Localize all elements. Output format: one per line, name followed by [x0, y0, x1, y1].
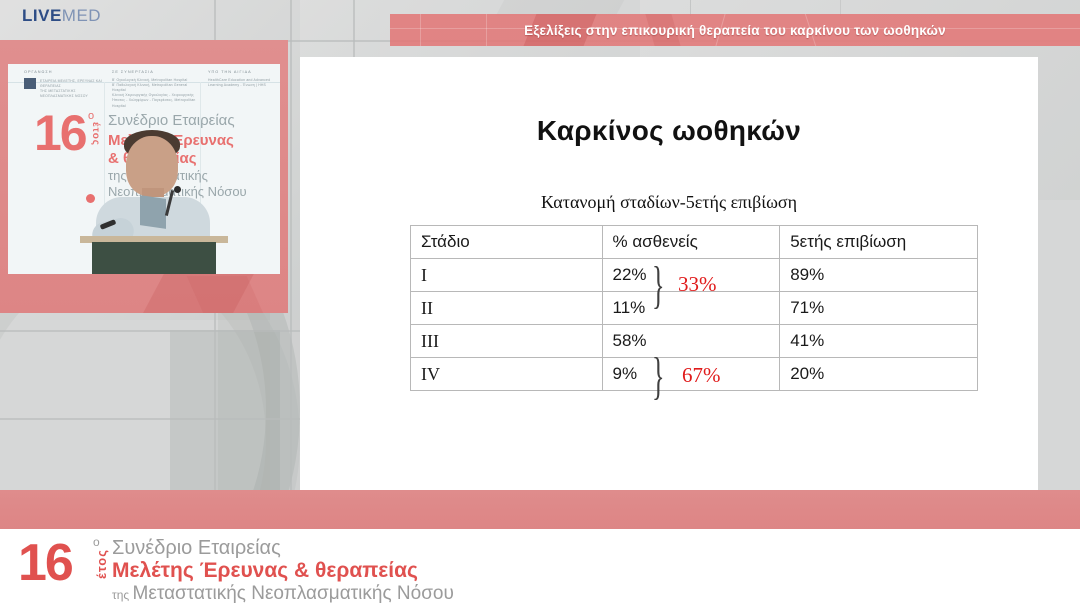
cell-patients-pct: 22% — [602, 259, 780, 292]
backdrop-etos: έτος — [90, 122, 101, 146]
cell-patients-pct: 11% — [602, 292, 780, 325]
footer-ordinal: ο — [93, 535, 100, 549]
cell-stage: IV — [411, 358, 603, 391]
column-header-patients: % ασθενείς — [602, 226, 780, 259]
footer-line-3-prefix: της — [112, 588, 133, 602]
livemed-logo: LIVEMED — [22, 6, 101, 26]
backdrop-ordinal: ο — [88, 110, 94, 122]
microphone-icon — [174, 186, 181, 193]
table-header-row: Στάδιο % ασθενείς 5ετής επιβίωση — [411, 226, 978, 259]
backdrop-aegis-label: ΥΠΟ ΤΗΝ ΑΙΓΙΔΑ — [208, 70, 252, 76]
cell-stage: III — [411, 325, 603, 358]
table-row: I 22% 89% — [411, 259, 978, 292]
stage-distribution-table: Στάδιο % ασθενείς 5ετής επιβίωση I 22% 8… — [410, 225, 978, 391]
footer-line-2: Μελέτης Έρευνας & θεραπείας — [112, 559, 418, 583]
slide-canvas[interactable]: Καρκίνος ωοθηκών Κατανομή σταδίων-5ετής … — [300, 57, 1038, 490]
column-header-survival: 5ετής επιβίωση — [780, 226, 978, 259]
cell-patients-pct: 58% — [602, 325, 780, 358]
podium — [92, 242, 216, 274]
backdrop-org-label: ΟΡΓΑΝΩΣΗ — [24, 70, 52, 74]
conference-footer-banner: 16 ο έτος Συνέδριο Εταιρείας Μελέτης Έρε… — [0, 529, 1080, 608]
table-row: IV 9% 20% — [411, 358, 978, 391]
cell-stage: II — [411, 292, 603, 325]
footer-line-3-text: Μεταστατικής Νεοπλασματικής Νόσου — [133, 583, 454, 604]
slide-subtitle: Κατανομή σταδίων-5ετής επιβίωση — [300, 192, 1038, 213]
cell-survival: 20% — [780, 358, 978, 391]
backdrop-aegis-lines: HealthCare Education and Advanced Learni… — [208, 78, 276, 88]
speaker-head — [126, 136, 178, 196]
footer-line-3: της Μεταστατικής Νεοπλασματικής Νόσου — [112, 583, 454, 605]
cell-survival: 71% — [780, 292, 978, 325]
speaker-collar — [140, 195, 166, 229]
backdrop-org-lines: ΕΤΑΙΡΕΙΑ ΜΕΛΕΤΗΣ, ΕΡΕΥΝΑΣ ΚΑΙ ΘΕΡΑΠΕΙΑΣ … — [40, 79, 102, 99]
backdrop-line-1: Συνέδριο Εταιρείας — [108, 112, 235, 129]
backdrop-dot — [86, 194, 95, 203]
table-row: III 58% 41% — [411, 325, 978, 358]
backdrop-coop-lines: Β' Ογκολογική Κλινική, Metropolitan Hosp… — [112, 78, 198, 109]
backdrop-edition-number: 16 — [34, 112, 86, 155]
logo-live-text: LIVE — [22, 6, 62, 25]
logo-med-text: MED — [62, 6, 101, 25]
footer-line-1: Συνέδριο Εταιρείας — [112, 537, 281, 560]
presentation-title-bar: Εξελίξεις στην επικουρική θεραπεία του κ… — [390, 14, 1080, 46]
backdrop-org-logo — [24, 78, 36, 89]
cell-survival: 41% — [780, 325, 978, 358]
backdrop-coop-label: ΣΕ ΣΥΝΕΡΓΑΣΙΑ — [112, 70, 154, 76]
cell-stage: I — [411, 259, 603, 292]
cell-survival: 89% — [780, 259, 978, 292]
footer-etos: έτος — [94, 549, 109, 579]
slide-title: Καρκίνος ωοθηκών — [300, 115, 1038, 147]
video-feed[interactable]: ΟΡΓΑΝΩΣΗ ΕΤΑΙΡΕΙΑ ΜΕΛΕΤΗΣ, ΕΡΕΥΝΑΣ ΚΑΙ Θ… — [8, 64, 280, 274]
slide-bottom-band — [0, 490, 1080, 529]
table-row: II 11% 71% — [411, 292, 978, 325]
video-player-panel[interactable]: ΟΡΓΑΝΩΣΗ ΕΤΑΙΡΕΙΑ ΜΕΛΕΤΗΣ, ΕΡΕΥΝΑΣ ΚΑΙ Θ… — [0, 40, 288, 313]
header-title-text: Εξελίξεις στην επικουρική θεραπεία του κ… — [524, 23, 946, 38]
cell-patients-pct: 9% — [602, 358, 780, 391]
column-header-stage: Στάδιο — [411, 226, 603, 259]
footer-edition-number: 16 — [18, 537, 72, 589]
